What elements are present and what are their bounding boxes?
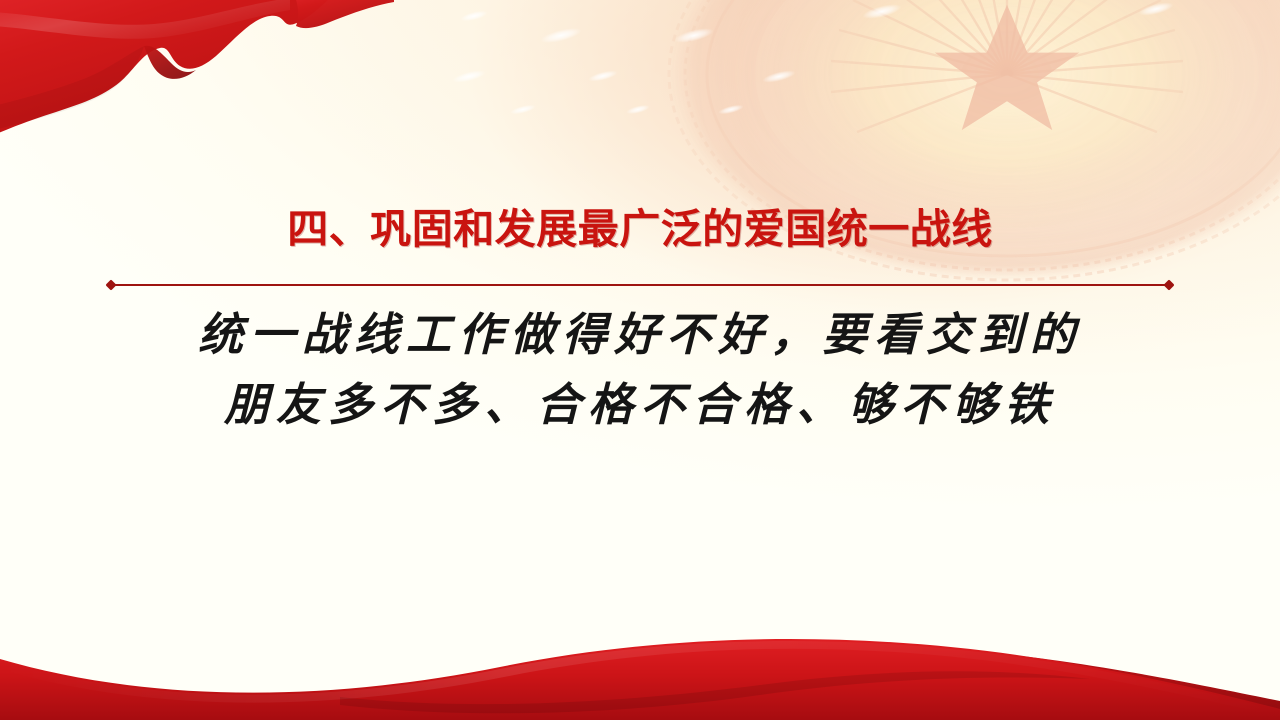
divider-diamond-right-icon xyxy=(1163,279,1174,290)
title-divider xyxy=(106,279,1174,290)
quote-line: 统一战线工作做得好不好，要看交到的 xyxy=(130,300,1150,370)
quote-line: 朋友多不多、合格不合格、够不够铁 xyxy=(130,370,1150,440)
divider-rule xyxy=(111,284,1169,286)
page-title: 四、巩固和发展最广泛的爱国统一战线 xyxy=(0,203,1280,255)
slide-canvas: 四、巩固和发展最广泛的爱国统一战线 统一战线工作做得好不好，要看交到的 朋友多不… xyxy=(0,0,1280,720)
quote-body: 统一战线工作做得好不好，要看交到的 朋友多不多、合格不合格、够不够铁 xyxy=(130,300,1150,440)
slide-content: 四、巩固和发展最广泛的爱国统一战线 统一战线工作做得好不好，要看交到的 朋友多不… xyxy=(0,0,1280,720)
